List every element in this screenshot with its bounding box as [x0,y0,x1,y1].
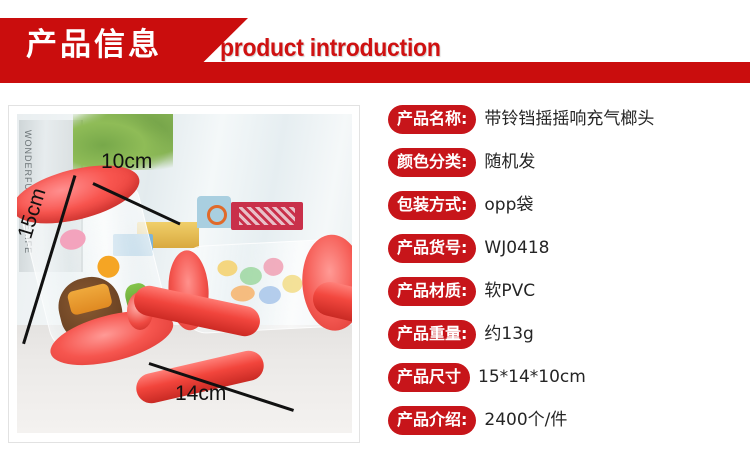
info-value: 2400个/件 [484,410,567,430]
info-row-material: 产品材质: 软PVC [388,276,746,306]
info-label: 颜色分类: [388,148,476,177]
info-label: 产品介绍: [388,406,476,435]
photo-toy-block-red [231,202,303,230]
info-value: 15*14*10cm [478,367,586,387]
info-value: 随机发 [484,152,535,172]
info-label: 产品尺寸 [388,363,470,392]
product-photo-frame: WONDERFUL HOMELIFE [8,105,360,443]
info-label: 产品材质: [388,277,476,306]
page-title-en: product introduction [220,34,441,63]
info-value: opp袋 [484,195,533,215]
info-row-color-category: 颜色分类: 随机发 [388,147,746,177]
info-value: 带铃铛摇摇响充气榔头 [484,109,654,129]
photo-toy-block-gear [197,196,231,228]
info-value: 约13g [484,324,533,344]
info-label: 产品名称: [388,105,476,134]
info-row-packaging: 包装方式: opp袋 [388,190,746,220]
info-row-size: 产品尺寸 15*14*10cm [388,362,746,392]
info-label: 产品货号: [388,234,476,263]
dimension-label-handle: 14cm [175,382,226,406]
page-header: 产品信息 product introduction [0,0,750,88]
info-value: WJ0418 [484,238,549,258]
info-row-product-name: 产品名称: 带铃铛摇摇响充气榔头 [388,104,746,134]
info-row-weight: 产品重量: 约13g [388,319,746,349]
info-label: 产品重量: [388,320,476,349]
page-title-cn: 产品信息 [26,22,162,68]
info-row-description: 产品介绍: 2400个/件 [388,405,746,435]
info-label: 包装方式: [388,191,476,220]
info-value: 软PVC [484,281,535,301]
product-photo: WONDERFUL HOMELIFE [17,114,352,433]
info-row-item-number: 产品货号: WJ0418 [388,233,746,263]
hammer2-handle [310,279,352,341]
dimension-label-width: 10cm [101,150,152,174]
product-info-list: 产品名称: 带铃铛摇摇响充气榔头 颜色分类: 随机发 包装方式: opp袋 产品… [388,104,746,448]
